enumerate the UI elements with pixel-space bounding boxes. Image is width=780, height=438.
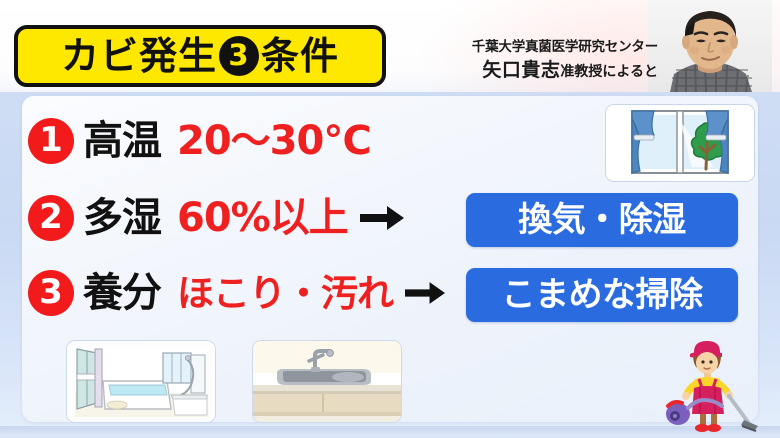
title-banner: カビ発生 3 条件 <box>14 25 386 87</box>
condition-value-1: 20〜30℃ <box>177 121 371 161</box>
attribution-title-suffix: 准教授によると <box>560 64 658 80</box>
illustration-open-window <box>605 104 755 182</box>
illustration-kitchen-sink <box>252 340 402 423</box>
attribution: 千葉大学真菌医学研究センター 矢口貴志准教授によると <box>396 38 658 84</box>
action-box-ventilation: 換気・除湿 <box>466 193 738 247</box>
action-text-2: こまめな掃除 <box>502 278 703 312</box>
condition-number-3: 3 <box>28 270 74 316</box>
condition-label-2: 多湿 <box>83 198 161 238</box>
condition-row-2: 2 多湿 60%以上 <box>28 189 404 247</box>
arrow-right-icon-2 <box>360 205 404 231</box>
condition-value-3: ほこり・汚れ <box>177 275 393 312</box>
action-box-cleaning: こまめな掃除 <box>466 268 738 322</box>
condition-row-1: 1 高温 20〜30℃ <box>28 112 371 170</box>
condition-row-3: 3 養分 ほこり・汚れ <box>28 264 445 322</box>
condition-label-1: 高温 <box>83 121 161 161</box>
condition-number-1: 1 <box>28 118 74 164</box>
illustration-bathroom <box>66 340 216 423</box>
arrow-right-icon-3 <box>405 280 445 306</box>
illustration-woman-vacuuming <box>664 330 768 434</box>
action-text-1: 換気・除湿 <box>518 203 686 237</box>
professor-photo <box>648 0 772 92</box>
attribution-person: 矢口貴志准教授によると <box>396 58 658 84</box>
attribution-organization: 千葉大学真菌医学研究センター <box>396 38 658 56</box>
infographic-stage: カビ発生 3 条件 千葉大学真菌医学研究センター 矢口貴志准教授によると 1 高… <box>0 0 780 438</box>
attribution-name: 矢口貴志 <box>482 59 560 81</box>
title-text-after: 条件 <box>261 37 339 75</box>
condition-number-2: 2 <box>28 195 74 241</box>
title-text-before: カビ発生 <box>61 37 217 75</box>
title-text: カビ発生 3 条件 <box>61 36 339 76</box>
title-number-badge: 3 <box>219 36 259 76</box>
condition-label-3: 養分 <box>83 273 161 313</box>
condition-value-2: 60%以上 <box>177 198 348 238</box>
